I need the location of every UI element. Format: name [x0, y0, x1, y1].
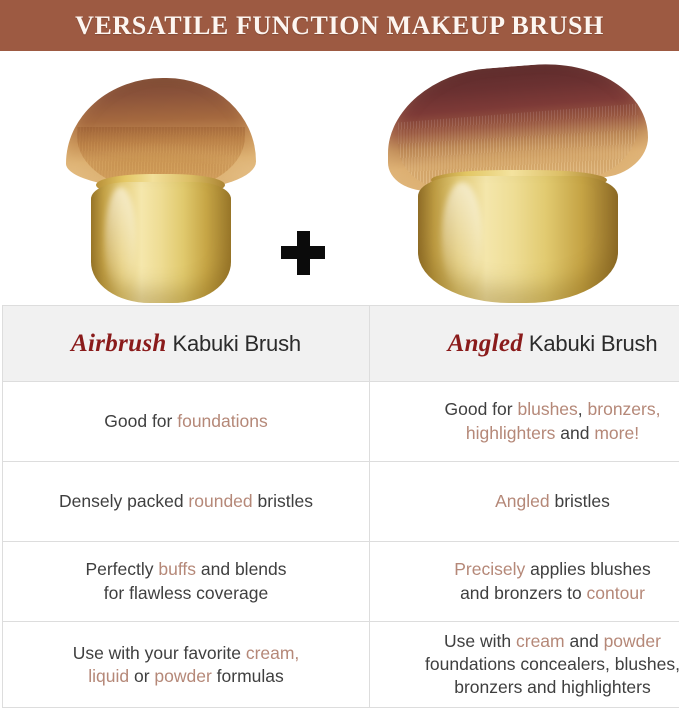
cell-line: Precisely applies blushes [384, 558, 679, 581]
cell-line: bronzers and highlighters [384, 676, 679, 699]
cell-line: Densely packed rounded bristles [17, 490, 355, 513]
table-cell-right: Precisely applies blushesand bronzers to… [370, 542, 679, 622]
highlighted-term: Precisely [454, 559, 525, 579]
plus-icon [281, 231, 325, 275]
table-cell-left: Use with your favorite cream,liquid or p… [3, 622, 370, 708]
cell-text-segment: and [555, 423, 594, 443]
highlighted-term: , [656, 399, 661, 419]
highlighted-term: blushes [517, 399, 577, 419]
cell-text-segment: Perfectly [85, 559, 158, 579]
cell-line: Angled bristles [384, 490, 679, 513]
header-script-text: Angled [448, 330, 523, 357]
comparison-table-body: Airbrush Kabuki BrushAngled Kabuki Brush… [3, 306, 679, 708]
cell-text-segment: applies blushes [525, 559, 651, 579]
cell-line: liquid or powder formulas [17, 665, 355, 688]
highlighted-term: cream, [246, 643, 299, 663]
cell-text-segment: , [578, 399, 588, 419]
table-row: Perfectly buffs and blendsfor flawless c… [3, 542, 679, 622]
angled-kabuki-brush-image [388, 66, 648, 303]
product-hero [0, 51, 679, 305]
table-row: Densely packed rounded bristlesAngled br… [3, 462, 679, 542]
cell-text-segment: bristles [253, 491, 313, 511]
cell-text-segment: Good for [104, 411, 177, 431]
table-row: Good for foundationsGood for blushes, br… [3, 382, 679, 462]
angled-handle [418, 176, 618, 303]
highlighted-term: more! [594, 423, 639, 443]
highlighted-term: contour [587, 583, 645, 603]
cell-line: Use with your favorite cream, [17, 642, 355, 665]
cell-line: highlighters and more! [384, 422, 679, 445]
highlighted-term: buffs [158, 559, 196, 579]
cell-text-segment: bristles [550, 491, 610, 511]
highlighted-term: rounded [188, 491, 252, 511]
highlighted-term: foundations [177, 411, 268, 431]
highlighted-term: cream [516, 631, 565, 651]
page-banner: VERSATILE FUNCTION MAKEUP BRUSH [0, 0, 679, 51]
highlighted-term: highlighters [466, 423, 556, 443]
cell-line: foundations concealers, blushes, [384, 653, 679, 676]
cell-line: Perfectly buffs and blends [17, 558, 355, 581]
header-plain-text: Kabuki Brush [523, 331, 657, 356]
plus-icon-vertical-bar [297, 231, 310, 275]
cell-text-segment: and bronzers to [460, 583, 586, 603]
cell-line: Good for foundations [17, 410, 355, 433]
airbrush-kabuki-brush-image [66, 78, 256, 303]
cell-text-segment: bronzers and highlighters [454, 677, 651, 697]
cell-text-segment: for flawless coverage [104, 583, 268, 603]
table-cell-right: Angled bristles [370, 462, 679, 542]
highlighted-term: liquid [88, 666, 129, 686]
table-cell-left: Perfectly buffs and blendsfor flawless c… [3, 542, 370, 622]
airbrush-handle [91, 182, 231, 303]
table-row: Use with your favorite cream,liquid or p… [3, 622, 679, 708]
highlighted-term: powder [154, 666, 211, 686]
header-script-text: Airbrush [71, 330, 167, 357]
cell-text-segment: formulas [212, 666, 284, 686]
cell-text-segment: Use with [444, 631, 516, 651]
header-cell-angled: Angled Kabuki Brush [370, 306, 679, 382]
cell-text-segment: and blends [196, 559, 287, 579]
table-cell-right: Good for blushes, bronzers,highlighters … [370, 382, 679, 462]
cell-line: and bronzers to contour [384, 582, 679, 605]
table-header-row: Airbrush Kabuki BrushAngled Kabuki Brush [3, 306, 679, 382]
cell-text-segment: and [565, 631, 604, 651]
table-cell-right: Use with cream and powderfoundations con… [370, 622, 679, 708]
cell-line: for flawless coverage [17, 582, 355, 605]
table-cell-left: Good for foundations [3, 382, 370, 462]
highlighted-term: Angled [495, 491, 550, 511]
table-cell-left: Densely packed rounded bristles [3, 462, 370, 542]
header-plain-text: Kabuki Brush [167, 331, 301, 356]
cell-line: Good for blushes, bronzers, [384, 398, 679, 421]
page-title: VERSATILE FUNCTION MAKEUP BRUSH [75, 11, 604, 41]
cell-text-segment: Use with your favorite [73, 643, 246, 663]
cell-text-segment: or [129, 666, 154, 686]
highlighted-term: bronzers [588, 399, 656, 419]
header-cell-airbrush: Airbrush Kabuki Brush [3, 306, 370, 382]
cell-text-segment: foundations concealers, blushes, [425, 654, 679, 674]
cell-line: Use with cream and powder [384, 630, 679, 653]
cell-text-segment: Good for [445, 399, 518, 419]
cell-text-segment: Densely packed [59, 491, 188, 511]
comparison-table: Airbrush Kabuki BrushAngled Kabuki Brush… [2, 305, 679, 708]
highlighted-term: powder [604, 631, 661, 651]
